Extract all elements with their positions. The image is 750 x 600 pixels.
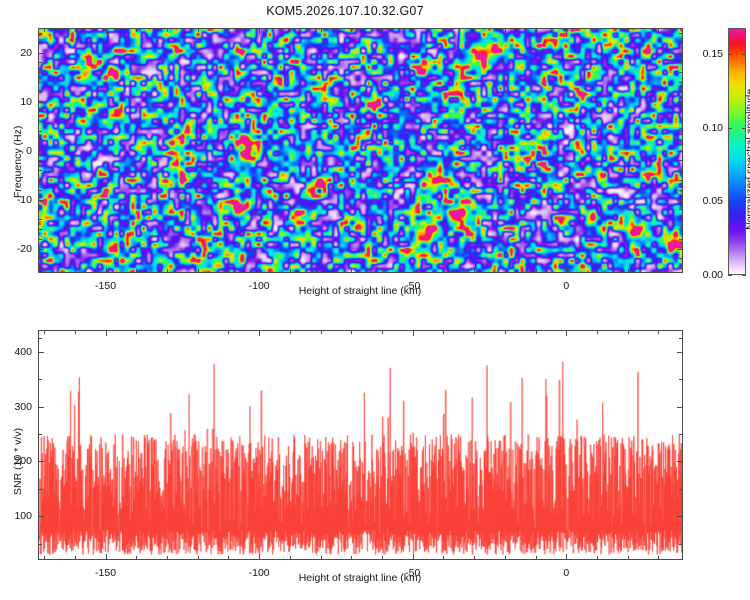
x-tick-minor [536,330,537,334]
x-tick-minor [351,269,352,273]
y-tick-minor [679,160,683,161]
x-tick-minor [505,556,506,560]
y-tick-minor [38,72,42,73]
x-tick-minor [228,330,229,334]
y-tick-minor [679,121,683,122]
y-tick-minor [38,170,42,171]
y-tick-major [38,151,44,152]
x-tick-minor [474,330,475,334]
y-tick-major [677,53,683,54]
x-tick-minor [290,269,291,273]
y-tick-minor [679,338,683,339]
y-tick-minor [679,92,683,93]
y-tick-minor [38,258,42,259]
y-tick-minor [679,180,683,181]
x-tick-minor [44,269,45,273]
x-tick-minor [628,269,629,273]
x-tick-minor [136,28,137,32]
y-tick-major [677,352,683,353]
y-tick-minor [679,33,683,34]
y-tick-major [38,200,44,201]
x-tick-minor [505,269,506,273]
y-tick-minor [38,160,42,161]
x-tick-minor [628,556,629,560]
x-tick-minor [75,269,76,273]
x-tick-minor [443,330,444,334]
y-tick-minor [38,268,42,269]
x-tick-minor [44,28,45,32]
y-tick-major [38,516,44,517]
x-tick-minor [351,330,352,334]
y-tick-minor [38,131,42,132]
colorbar-label: Normalized spectral amplitude [744,89,750,230]
y-tick-major [38,352,44,353]
y-tick-major [38,461,44,462]
y-tick-minor [679,229,683,230]
x-tick-major [566,330,567,336]
x-tick-minor [167,269,168,273]
x-tick-minor [536,556,537,560]
x-tick-minor [382,28,383,32]
x-tick-minor [628,330,629,334]
x-tick-major [106,554,107,560]
spectrogram-x-axis-label: Height of straight line (km) [299,285,422,297]
colorbar-tick [728,128,732,129]
y-tick-minor [679,141,683,142]
snr-x-axis-label: Height of straight line (km) [299,572,422,584]
y-tick-label: 20 [0,47,32,59]
x-tick-major [259,28,260,34]
x-tick-minor [382,330,383,334]
x-tick-minor [658,556,659,560]
figure-root: KOM5.2026.107.10.32.G07 -150-100-5002010… [0,0,750,600]
x-tick-minor [443,28,444,32]
y-tick-major [38,102,44,103]
x-tick-label: -100 [249,280,270,292]
x-tick-minor [536,269,537,273]
x-tick-minor [167,556,168,560]
x-tick-minor [658,330,659,334]
x-tick-minor [167,330,168,334]
x-tick-label: 0 [563,567,569,579]
colorbar-tick [742,54,746,55]
x-tick-minor [536,28,537,32]
x-tick-major [106,267,107,273]
y-tick-minor [679,544,683,545]
y-tick-minor [679,258,683,259]
y-tick-minor [38,489,42,490]
x-tick-minor [290,556,291,560]
colorbar-tick [728,201,732,202]
y-tick-minor [38,434,42,435]
y-tick-major [677,200,683,201]
y-tick-minor [679,82,683,83]
y-tick-minor [679,434,683,435]
x-tick-major [566,28,567,34]
x-tick-minor [658,269,659,273]
x-tick-minor [597,28,598,32]
x-tick-minor [443,556,444,560]
y-tick-major [677,407,683,408]
x-tick-minor [443,269,444,273]
y-tick-minor [38,121,42,122]
y-tick-minor [679,111,683,112]
x-tick-minor [474,28,475,32]
y-tick-minor [679,489,683,490]
x-tick-minor [474,269,475,273]
x-tick-major [566,554,567,560]
x-tick-major [259,554,260,560]
y-tick-minor [38,338,42,339]
y-tick-minor [38,92,42,93]
y-tick-minor [38,180,42,181]
colorbar-tick [728,275,732,276]
x-tick-minor [597,330,598,334]
y-tick-minor [38,111,42,112]
y-tick-minor [38,209,42,210]
x-tick-minor [597,556,598,560]
x-tick-major [413,267,414,273]
y-tick-major [38,53,44,54]
y-tick-major [677,461,683,462]
snr-y-axis-label: SNR (10 * v/v) [12,428,24,495]
x-tick-minor [290,330,291,334]
y-tick-minor [679,190,683,191]
y-tick-minor [679,131,683,132]
y-tick-minor [38,239,42,240]
x-tick-minor [228,28,229,32]
y-tick-minor [38,141,42,142]
x-tick-minor [382,556,383,560]
x-tick-minor [198,330,199,334]
x-tick-major [259,267,260,273]
x-tick-minor [351,556,352,560]
x-tick-minor [136,269,137,273]
y-tick-minor [679,170,683,171]
y-tick-minor [38,43,42,44]
y-tick-major [677,516,683,517]
x-tick-minor [167,28,168,32]
y-tick-label: 400 [0,346,32,358]
y-tick-major [38,249,44,250]
y-tick-minor [679,209,683,210]
y-tick-major [38,407,44,408]
y-tick-minor [38,219,42,220]
y-tick-minor [38,82,42,83]
snr-trace-line [39,331,682,559]
y-tick-minor [679,72,683,73]
x-tick-label: -100 [249,567,270,579]
colorbar-tick [728,54,732,55]
y-tick-minor [38,544,42,545]
y-tick-label: -20 [0,243,32,255]
x-tick-minor [474,556,475,560]
x-tick-major [259,330,260,336]
x-tick-minor [321,330,322,334]
y-tick-minor [679,219,683,220]
x-tick-minor [321,556,322,560]
spectrogram-image [39,29,682,272]
x-tick-minor [75,28,76,32]
x-tick-minor [198,269,199,273]
y-tick-minor [38,379,42,380]
x-tick-minor [136,556,137,560]
x-tick-major [106,28,107,34]
colorbar-tick-label: 0.00 [690,269,723,281]
y-tick-minor [679,43,683,44]
y-tick-label: 100 [0,510,32,522]
x-tick-minor [321,269,322,273]
x-tick-minor [628,28,629,32]
x-tick-major [413,554,414,560]
y-tick-major [677,102,683,103]
y-tick-minor [38,62,42,63]
y-tick-minor [38,190,42,191]
y-tick-minor [679,239,683,240]
snr-plot-area[interactable] [38,330,683,560]
colorbar-tick-label: 0.15 [690,48,723,60]
colorbar-tick-label: 0.05 [690,195,723,207]
y-tick-label: 300 [0,401,32,413]
x-tick-minor [228,269,229,273]
y-tick-minor [38,229,42,230]
x-tick-minor [198,556,199,560]
x-tick-minor [321,28,322,32]
x-tick-minor [290,28,291,32]
x-tick-minor [505,28,506,32]
y-tick-label: 10 [0,96,32,108]
y-tick-minor [679,62,683,63]
y-tick-major [677,151,683,152]
x-tick-major [413,330,414,336]
x-tick-minor [505,330,506,334]
colorbar-tick [742,275,746,276]
spectrogram-y-axis-label: Frequency (Hz) [12,126,24,198]
x-tick-major [413,28,414,34]
x-tick-minor [382,269,383,273]
y-tick-major [677,249,683,250]
x-tick-minor [75,330,76,334]
x-tick-minor [44,330,45,334]
x-tick-label: -150 [95,567,116,579]
colorbar-tick-label: 0.10 [690,122,723,134]
y-tick-minor [679,268,683,269]
x-tick-minor [75,556,76,560]
x-tick-minor [198,28,199,32]
spectrogram-plot-area[interactable] [38,28,683,273]
y-tick-minor [679,379,683,380]
x-tick-label: -150 [95,280,116,292]
x-tick-label: 0 [563,280,569,292]
x-tick-minor [136,330,137,334]
y-tick-minor [38,33,42,34]
x-tick-major [106,330,107,336]
x-tick-minor [658,28,659,32]
x-tick-minor [44,556,45,560]
x-tick-minor [597,269,598,273]
x-tick-minor [351,28,352,32]
x-tick-major [566,267,567,273]
page-title: KOM5.2026.107.10.32.G07 [0,4,690,18]
x-tick-minor [228,556,229,560]
